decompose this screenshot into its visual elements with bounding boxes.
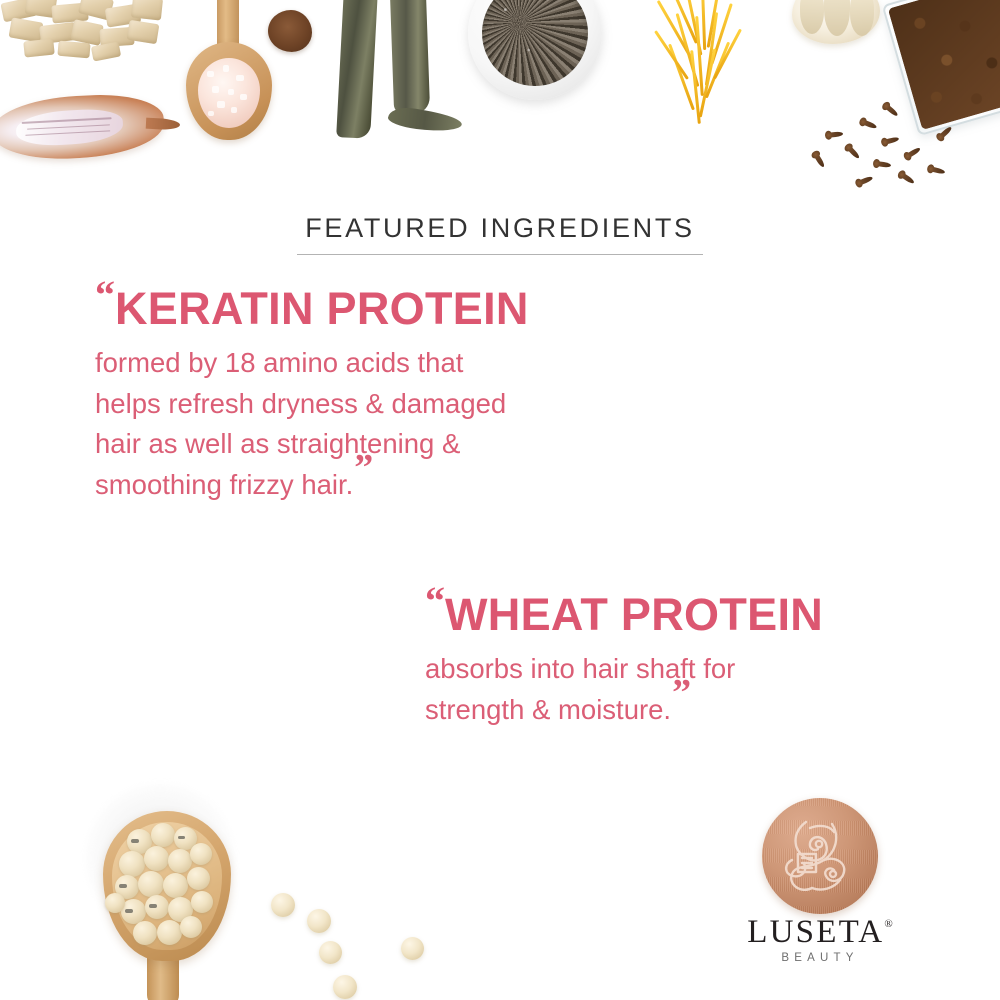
description-line-text: strength & moisture. [425, 694, 671, 725]
clove-icon [906, 146, 921, 158]
clove-icon [876, 161, 892, 168]
bowl-of-black-pepper-icon [468, 0, 602, 100]
scattered-soybean [333, 975, 357, 999]
description-line: helps refresh dryness & damaged [95, 384, 735, 425]
open-quote-icon: “ [95, 272, 114, 317]
ingredient-block-keratin-protein: “KERATIN PROTEIN formed by 18 amino acid… [95, 286, 735, 506]
clove-icon [884, 136, 900, 144]
clove-icon [862, 119, 878, 129]
description-line: formed by 18 amino acids that [95, 343, 735, 384]
dried-bark-strip-icon [336, 0, 378, 139]
clove-icon [900, 172, 915, 185]
section-heading: FEATURED INGREDIENTS [0, 213, 1000, 255]
ingredient-title-text: KERATIN PROTEIN [115, 283, 529, 334]
ingredient-title-keratin-protein: “KERATIN PROTEIN [95, 286, 735, 331]
scattered-soybean [319, 941, 342, 964]
description-line-final: smoothing frizzy hair.” [95, 465, 735, 506]
ingredients-photo-banner [0, 0, 1000, 200]
dried-bark-strip-icon [387, 106, 463, 135]
clove-icon [846, 145, 860, 159]
close-quote-icon: ” [354, 447, 372, 489]
saffron-threads-icon [640, 0, 752, 132]
luseta-beauty-logo[interactable]: LUSETA® BEAUTY [735, 798, 905, 963]
description-line: hair as well as straightening & [95, 424, 735, 465]
close-quote-icon: ” [672, 672, 690, 714]
dried-ginger-chips-icon [0, 0, 180, 62]
clove-icon [828, 131, 843, 138]
description-line: absorbs into hair shaft for [425, 649, 965, 690]
sliced-shallot-icon [0, 92, 166, 163]
wooden-spoon-pink-salt-icon [186, 0, 272, 166]
clove-icon [813, 153, 825, 168]
logo-wordmark: LUSETA® [735, 916, 905, 949]
ingredient-title-wheat-protein: “WHEAT PROTEIN [425, 592, 965, 637]
dried-flower-bud-icon [268, 10, 312, 52]
ingredient-block-wheat-protein: “WHEAT PROTEIN absorbs into hair shaft f… [425, 592, 965, 730]
garlic-cloves-icon [792, 0, 880, 44]
ingredient-description-wheat-protein: absorbs into hair shaft for strength & m… [425, 649, 965, 730]
description-line-final: strength & moisture.” [425, 690, 965, 731]
clove-jar-icon [882, 0, 1000, 136]
soybean-spoon-image [75, 775, 475, 1000]
open-quote-icon: “ [425, 578, 444, 623]
luseta-monogram-medallion-icon [762, 798, 878, 914]
scattered-soybean [401, 937, 424, 960]
clove-icon [930, 166, 946, 174]
dried-bark-strip-icon [390, 0, 430, 115]
ingredient-title-text: WHEAT PROTEIN [445, 589, 823, 640]
logo-tagline: BEAUTY [735, 952, 905, 964]
scattered-soybean [271, 893, 295, 917]
scattered-soybean [307, 909, 331, 933]
description-line-text: smoothing frizzy hair. [95, 469, 353, 500]
logo-wordmark-text: LUSETA [747, 914, 884, 950]
ingredient-description-keratin-protein: formed by 18 amino acids that helps refr… [95, 343, 735, 506]
clove-icon [884, 104, 899, 117]
clove-icon [858, 175, 874, 185]
page-title: FEATURED INGREDIENTS [297, 213, 703, 255]
ad-canvas: FEATURED INGREDIENTS “KERATIN PROTEIN fo… [0, 0, 1000, 1000]
registered-trademark-icon: ® [884, 918, 892, 930]
